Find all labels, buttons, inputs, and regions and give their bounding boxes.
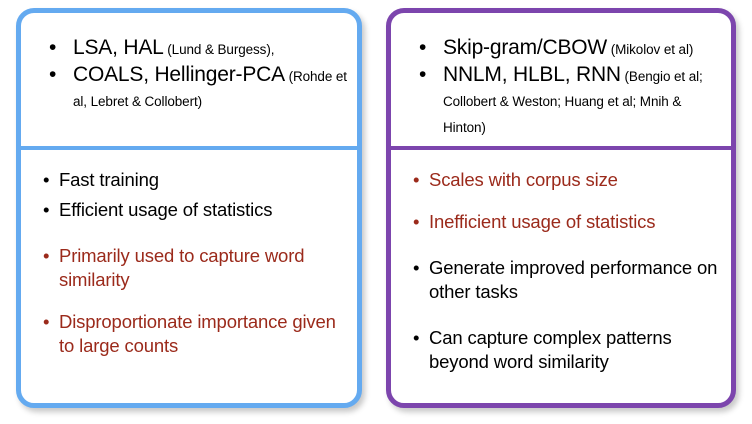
header-item-title: LSA, HAL (73, 36, 164, 59)
list-item: • Disproportionate importance given to l… (33, 310, 345, 358)
list-item: • Generate improved performance on other… (403, 256, 719, 304)
list-item: • Scales with corpus size (403, 168, 719, 192)
right-panel-bullet-list: • Scales with corpus size • Inefficient … (391, 150, 731, 403)
bullet-text: Primarily used to capture word similarit… (59, 245, 304, 290)
bullet-icon: • (413, 168, 419, 192)
list-item: • Can capture complex patterns beyond wo… (403, 326, 719, 374)
right-panel-header-list: • Skip-gram/CBOW (Mikolov et al) • NNLM,… (391, 13, 731, 146)
list-item: • Inefficient usage of statistics (403, 210, 719, 234)
bullet-icon: • (419, 35, 426, 61)
bullet-text: Inefficient usage of statistics (429, 211, 655, 232)
bullet-icon: • (413, 210, 419, 234)
list-item: • LSA, HAL (Lund & Burgess), (31, 35, 347, 61)
right-comparison-panel: • Skip-gram/CBOW (Mikolov et al) • NNLM,… (386, 8, 736, 408)
left-panel-bullet-list: • Fast training • Efficient usage of sta… (21, 150, 357, 403)
list-item: • Primarily used to capture word similar… (33, 244, 345, 292)
spacer (403, 192, 719, 210)
bullet-icon: • (419, 62, 426, 88)
bullet-text: Scales with corpus size (429, 169, 618, 190)
bullet-text: Can capture complex patterns beyond word… (429, 327, 672, 372)
header-item-citation: (Lund & Burgess), (164, 42, 275, 57)
bullet-icon: • (413, 326, 419, 350)
list-item: • COALS, Hellinger-PCA (Rohde et al, Leb… (31, 62, 347, 113)
spacer (403, 234, 719, 256)
list-item: • Efficient usage of statistics (33, 198, 345, 222)
bullet-icon: • (43, 244, 49, 268)
bullet-icon: • (49, 62, 56, 88)
slide-canvas: • LSA, HAL (Lund & Burgess), • COALS, He… (0, 0, 752, 424)
bullet-text: Fast training (59, 169, 159, 190)
header-item-title: NNLM, HLBL, RNN (443, 63, 621, 86)
spacer (403, 304, 719, 326)
bullet-text: Efficient usage of statistics (59, 199, 272, 220)
list-item: • Fast training (33, 168, 345, 192)
list-item: • NNLM, HLBL, RNN (Bengio et al; Collobe… (401, 62, 721, 139)
header-item-citation: (Mikolov et al) (607, 42, 693, 57)
spacer (33, 292, 345, 310)
bullet-icon: • (413, 256, 419, 280)
bullet-text: Disproportionate importance given to lar… (59, 311, 336, 356)
list-item: • Skip-gram/CBOW (Mikolov et al) (401, 35, 721, 61)
bullet-icon: • (43, 198, 49, 222)
bullet-icon: • (43, 310, 49, 334)
header-item-title: COALS, Hellinger-PCA (73, 63, 285, 86)
header-item-title: Skip-gram/CBOW (443, 36, 607, 59)
left-comparison-panel: • LSA, HAL (Lund & Burgess), • COALS, He… (16, 8, 362, 408)
bullet-icon: • (43, 168, 49, 192)
bullet-text: Generate improved performance on other t… (429, 257, 717, 302)
spacer (33, 222, 345, 244)
left-panel-header-list: • LSA, HAL (Lund & Burgess), • COALS, He… (21, 13, 357, 146)
bullet-icon: • (49, 35, 56, 61)
